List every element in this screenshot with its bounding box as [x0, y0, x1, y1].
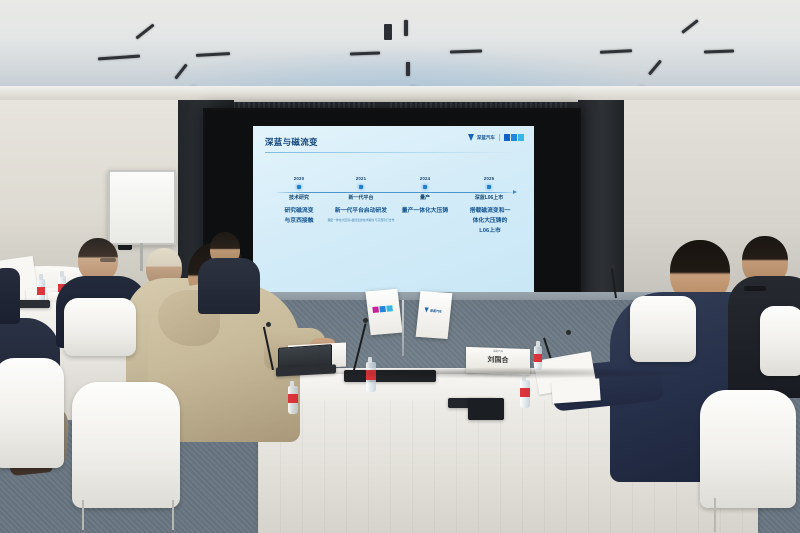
table-standee-left: [365, 289, 402, 335]
brand-name: 深蓝汽车: [477, 135, 495, 141]
water-bottle: [520, 380, 530, 408]
ceiling-light: [404, 20, 408, 36]
timeline-year: 2025: [457, 176, 521, 181]
timeline-body: 新一代平台启动研发 确定一体化大压铸+磁流变的技术路线 与京西签订合作: [323, 206, 399, 222]
brand-triangle-icon: [468, 134, 474, 141]
timeline-subtitle: 技术研究: [267, 194, 331, 201]
timeline-body: 研究磁流变 与京西接触: [267, 206, 331, 226]
timeline-body-text: 新一代平台启动研发: [335, 208, 387, 214]
timeline-body-note: 确定一体化大压铸+磁流变的技术路线 与京西签订合作: [323, 218, 399, 222]
attendee-glasses-icon: [100, 258, 116, 262]
flipchart-whiteboard: [108, 170, 176, 245]
timeline-subtitle: 深蓝L06上市: [457, 194, 521, 201]
timeline-year: 2024: [393, 176, 457, 181]
bottle-label: [520, 388, 530, 397]
water-bottle: [288, 386, 298, 414]
microphone-head-icon: [566, 330, 571, 335]
placard-org: 深蓝汽车: [466, 348, 530, 354]
timeline-body: 搭载磁流变和一 体化大压铸的 L06上市: [455, 206, 525, 236]
chair[interactable]: [630, 296, 696, 362]
chair[interactable]: [0, 358, 64, 468]
table-shadow: [248, 366, 768, 380]
standee-brand-name: 深蓝汽车: [430, 308, 442, 313]
chair-leg: [172, 500, 174, 530]
bottle-label: [37, 287, 45, 295]
chair[interactable]: [700, 390, 796, 508]
ceiling-speaker: [384, 24, 392, 40]
microphone-head-icon: [610, 264, 615, 269]
tablet-device[interactable]: [468, 398, 504, 420]
bottle-label: [534, 354, 542, 362]
slide-brand-logo: 深蓝汽车: [468, 134, 524, 141]
timeline-dot-icon: [487, 185, 491, 189]
flipchart-stand: [140, 243, 143, 271]
timeline-year: 2020: [267, 176, 331, 181]
chair[interactable]: [64, 298, 136, 356]
bottle-label: [288, 394, 298, 403]
microphone-head-icon: [266, 322, 271, 327]
attendee-glasses-icon: [744, 286, 766, 291]
timeline-year: 2021: [329, 176, 393, 181]
timeline-subtitle: 量产: [393, 194, 457, 201]
timeline-body-text: 研究磁流变 与京西接触: [285, 208, 314, 224]
water-bottle: [37, 279, 45, 301]
placard-name-text: 刘国合: [466, 354, 530, 366]
timeline-dot-icon: [297, 185, 301, 189]
timeline-dot-icon: [359, 185, 363, 189]
timeline-subtitle: 新一代平台: [329, 194, 393, 201]
timeline-node: 2025 深蓝L06上市: [457, 176, 521, 201]
meeting-room-photo: 深蓝与磁流变 深蓝汽车 2020 技术研究 研究磁流变 与京西接触 2021 新…: [0, 0, 800, 533]
table-standee-right: 深蓝汽车: [416, 291, 453, 339]
slide-title-underline: [265, 152, 523, 153]
logo-divider: [499, 134, 500, 141]
ceiling-light: [406, 62, 410, 76]
timeline-dot-icon: [423, 185, 427, 189]
timeline-node: 2021 新一代平台: [329, 176, 393, 201]
attendee-body: [198, 258, 260, 314]
slide-title: 深蓝与磁流变: [265, 136, 318, 148]
standee-post: [402, 300, 404, 356]
attendee-body: [0, 268, 20, 324]
brand-badge-icon: [504, 134, 524, 141]
slide-content: 深蓝与磁流变 深蓝汽车 2020 技术研究 研究磁流变 与京西接触 2021 新…: [253, 126, 534, 308]
timeline-node: 2020 技术研究: [267, 176, 331, 201]
document-sheet: [551, 378, 600, 403]
chair[interactable]: [72, 382, 180, 508]
standee-logo: 深蓝汽车: [424, 307, 442, 313]
timeline-body-text: 量产一体化大压铸: [402, 208, 448, 214]
timeline-body: 量产一体化大压铸: [389, 206, 461, 216]
timeline-body-text: 搭载磁流变和一 体化大压铸的 L06上市: [470, 208, 511, 234]
chair-leg: [82, 500, 84, 530]
timeline-node: 2024 量产: [393, 176, 457, 201]
standee-badge-icon: [372, 305, 393, 313]
chair-leg: [714, 498, 716, 532]
microphone-head-icon: [363, 318, 368, 323]
ceiling: [0, 0, 800, 92]
wall-column: [578, 100, 624, 300]
